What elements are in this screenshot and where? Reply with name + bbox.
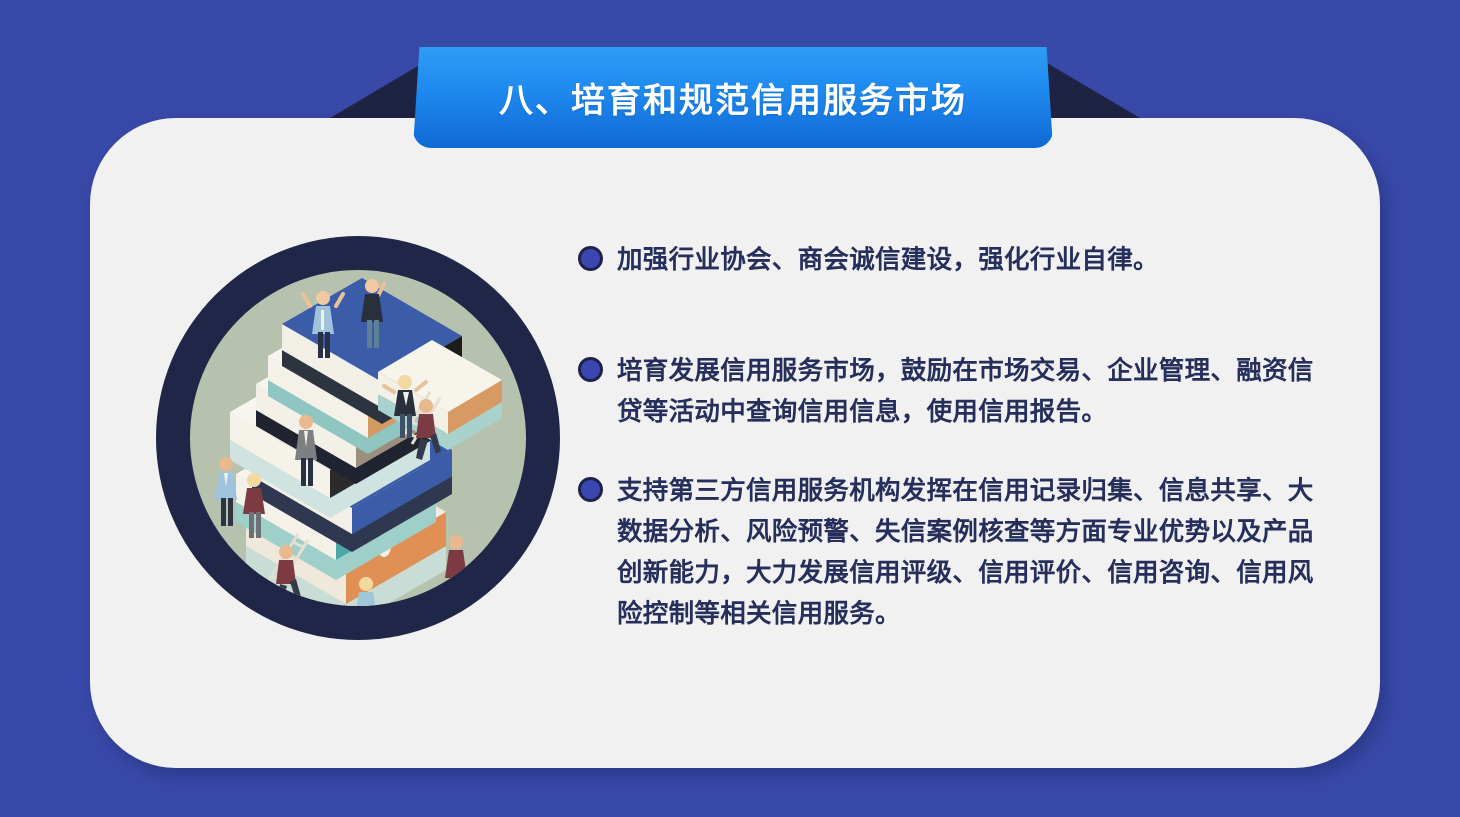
bullet-text-1: 加强行业协会、商会诚信建设，强化行业自律。	[617, 240, 1159, 281]
illustration-circle	[156, 236, 560, 640]
bullet-text-3: 支持第三方信用服务机构发挥在信用记录归集、信息共享、大数据分析、风险预警、失信案…	[617, 471, 1318, 635]
bullet-dot-icon	[578, 246, 603, 271]
bullet-text-2: 培育发展信用服务市场，鼓励在市场交易、企业管理、融资信贷等活动中查询信用信息，使…	[617, 351, 1318, 433]
list-item: 支持第三方信用服务机构发挥在信用记录归集、信息共享、大数据分析、风险预警、失信案…	[578, 471, 1318, 635]
slide-root: 八、培育和规范信用服务市场	[0, 0, 1460, 817]
book-stack-icon	[190, 270, 526, 606]
page-title: 八、培育和规范信用服务市场	[499, 73, 967, 122]
list-item: 培育发展信用服务市场，鼓励在市场交易、企业管理、融资信贷等活动中查询信用信息，使…	[578, 351, 1318, 433]
illustration-disc	[190, 270, 526, 606]
list-item: 加强行业协会、商会诚信建设，强化行业自律。	[578, 240, 1318, 281]
bullet-list: 加强行业协会、商会诚信建设，强化行业自律。 培育发展信用服务市场，鼓励在市场交易…	[578, 240, 1318, 635]
person-figure	[215, 457, 237, 526]
title-banner: 八、培育和规范信用服务市场	[413, 47, 1053, 148]
bullet-dot-icon	[578, 357, 603, 382]
bullet-dot-icon	[578, 477, 603, 502]
